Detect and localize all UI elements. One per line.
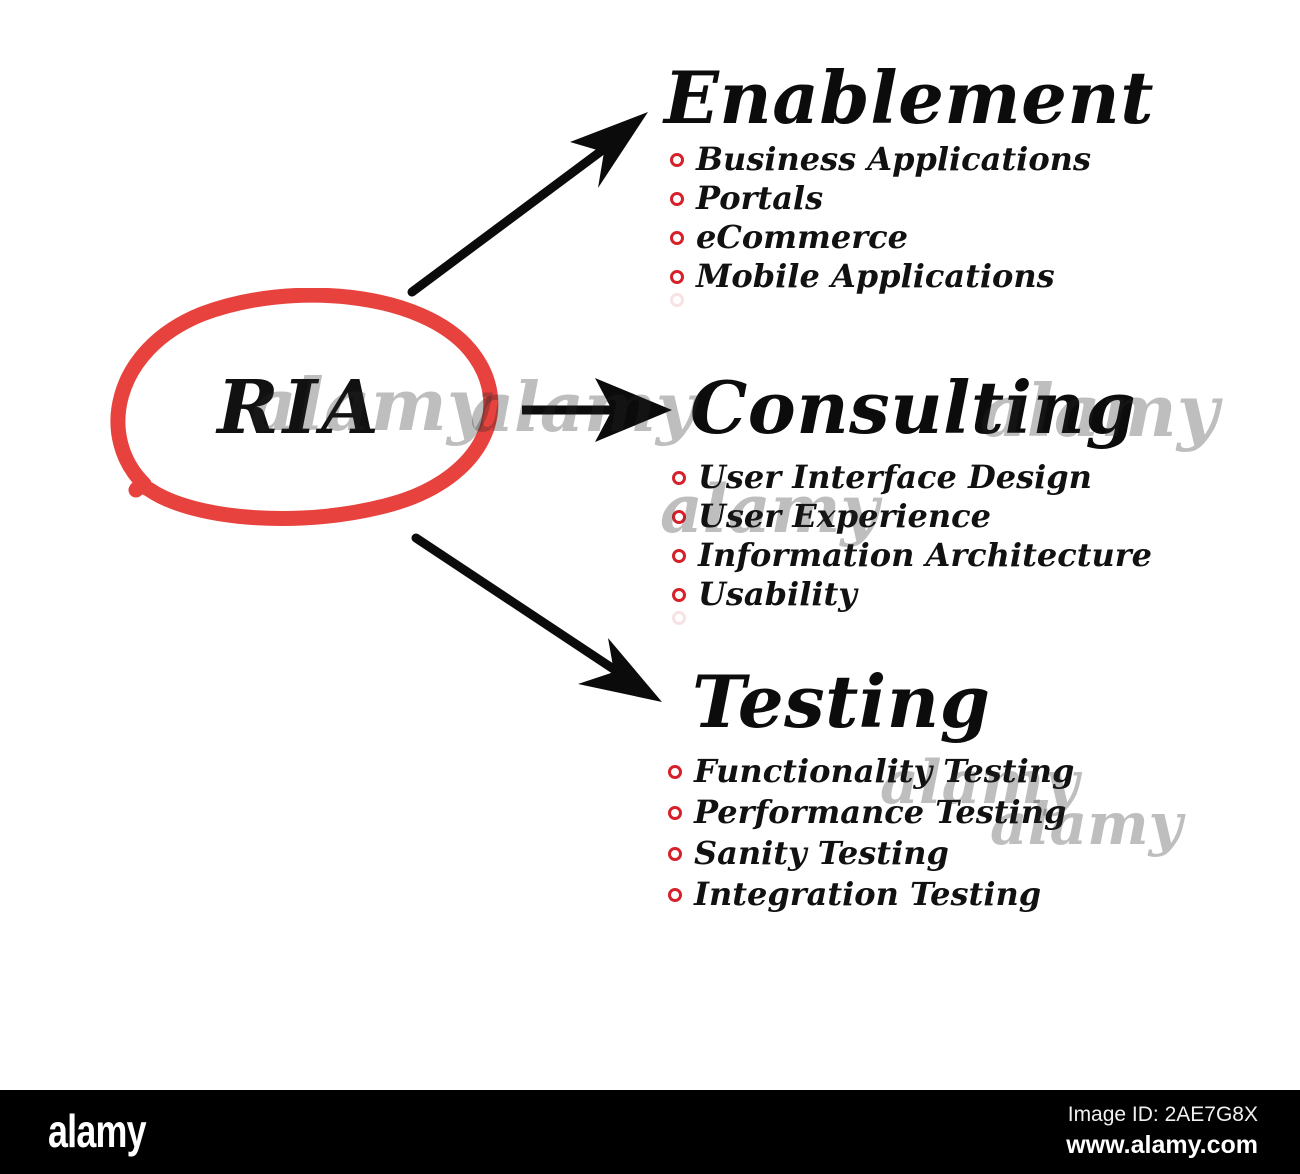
branch-list-consulting: User Interface Design User Experience In… [672, 458, 1152, 653]
bullet-circle-icon [672, 510, 686, 524]
list-item: Business Applications [670, 140, 1154, 179]
list-item-label: eCommerce [696, 218, 908, 256]
bullet-circle-icon [672, 549, 686, 563]
bullet-circle-icon [668, 806, 682, 820]
branch-title-enablement: Enablement [664, 62, 1154, 134]
arrow-to-enablement-icon [412, 112, 648, 292]
bullet-circle-icon [672, 471, 686, 485]
branch-title-testing: Testing [692, 666, 1074, 738]
branch-testing: Testing Functionality Testing Performanc… [692, 666, 1074, 916]
list-item: Performance Testing [668, 793, 1074, 834]
bullet-circle-icon [668, 765, 682, 779]
bullet-circle-icon-faint [670, 293, 684, 307]
bullet-circle-icon [668, 888, 682, 902]
footer-url-link[interactable]: www.alamy.com [1066, 1129, 1258, 1163]
list-item-label: Mobile Applications [696, 257, 1055, 295]
list-item-label: User Interface Design [698, 458, 1092, 496]
bullet-circle-icon-faint [672, 611, 686, 625]
screenshot-root: RIA Enablement Business Applications Por… [0, 0, 1300, 1174]
center-node-label: RIA [92, 288, 502, 528]
list-item: Portals [670, 179, 1154, 218]
list-item-label: Integration Testing [694, 875, 1041, 913]
list-item: eCommerce [670, 218, 1154, 257]
branch-list-testing: Functionality Testing Performance Testin… [668, 752, 1074, 916]
list-item-label: Usability [698, 575, 857, 613]
watermark-text: alamy [470, 368, 695, 448]
list-item-label: User Experience [698, 497, 991, 535]
list-item: User Experience [672, 497, 1152, 536]
list-item-label: Portals [696, 179, 823, 217]
list-item: Mobile Applications [670, 257, 1154, 296]
bullet-circle-icon [672, 588, 686, 602]
list-item: Functionality Testing [668, 752, 1074, 793]
diagram-canvas: RIA Enablement Business Applications Por… [0, 0, 1300, 1090]
bullet-circle-icon [668, 847, 682, 861]
list-item-empty [672, 614, 1152, 653]
branch-enablement: Enablement Business Applications Portals… [664, 62, 1154, 335]
list-item: Usability [672, 575, 1152, 614]
bullet-circle-icon [670, 231, 684, 245]
bullet-circle-icon [670, 270, 684, 284]
footer-bar: alamy Image ID: 2AE7G8X www.alamy.com [0, 1090, 1300, 1174]
list-item-label: Information Architecture [698, 536, 1152, 574]
list-item: Integration Testing [668, 875, 1074, 916]
alamy-logo[interactable]: alamy [48, 1104, 146, 1158]
list-item-label: Business Applications [696, 140, 1091, 178]
arrow-to-testing-icon [416, 538, 662, 702]
list-item: Information Architecture [672, 536, 1152, 575]
list-item-label: Performance Testing [694, 793, 1066, 831]
bullet-circle-icon [670, 153, 684, 167]
bullet-circle-icon [670, 192, 684, 206]
branch-list-enablement: Business Applications Portals eCommerce … [670, 140, 1154, 335]
list-item-label: Sanity Testing [694, 834, 949, 872]
center-node[interactable]: RIA [92, 288, 502, 528]
list-item: Sanity Testing [668, 834, 1074, 875]
list-item-label: Functionality Testing [694, 752, 1074, 790]
footer-meta: Image ID: 2AE7G8X www.alamy.com [1066, 1100, 1258, 1163]
branch-title-consulting: Consulting [690, 372, 1152, 444]
branch-consulting: Consulting User Interface Design User Ex… [690, 372, 1152, 653]
list-item: User Interface Design [672, 458, 1152, 497]
image-id-label: Image ID: 2AE7G8X [1066, 1100, 1258, 1129]
arrow-to-consulting-icon [522, 378, 672, 442]
list-item-empty [670, 296, 1154, 335]
